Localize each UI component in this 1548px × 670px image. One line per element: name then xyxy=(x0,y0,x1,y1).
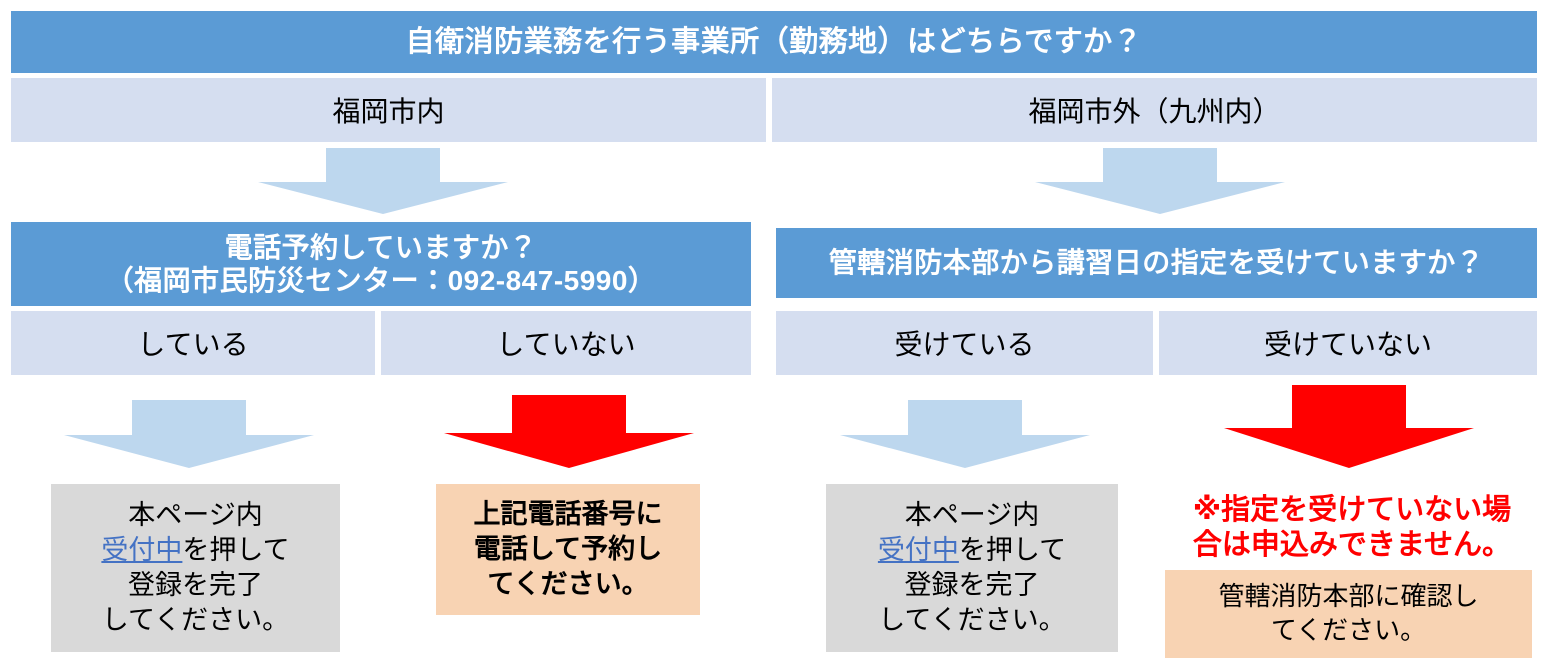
left-branch-question-line2: （福岡市民防災センター：092-847-5990） xyxy=(106,264,657,297)
outcome-right-yes-line4: してください。 xyxy=(878,603,1065,638)
right-branch-option-yes[interactable]: 受けている xyxy=(776,311,1153,375)
root-option-fukuoka-city[interactable]: 福岡市内 xyxy=(11,78,766,142)
left-branch-option-label-1: していない xyxy=(496,323,635,363)
outcome-right-yes-line1: 本ページ内 xyxy=(905,498,1039,533)
root-option-label-0: 福岡市内 xyxy=(332,90,444,130)
right-branch-question-box: 管轄消防本部から講習日の指定を受けていますか？ xyxy=(776,228,1537,298)
down-arrow-icon xyxy=(258,148,508,214)
outcome-left-no-line2: 電話して予約し xyxy=(474,532,662,567)
flowchart-canvas: 自衛消防業務を行う事業所（勤務地）はどちらですか？ 福岡市内 福岡市外（九州内）… xyxy=(0,0,1548,670)
down-arrow-icon xyxy=(444,395,694,468)
uketsukechu-link[interactable]: 受付中 xyxy=(878,535,959,565)
down-arrow-icon xyxy=(64,400,314,468)
root-option-label-1: 福岡市外（九州内） xyxy=(1028,90,1280,130)
root-option-outside-fukuoka[interactable]: 福岡市外（九州内） xyxy=(772,78,1537,142)
left-branch-question-box: 電話予約していますか？ （福岡市民防災センター：092-847-5990） xyxy=(11,222,751,306)
right-branch-option-no[interactable]: 受けていない xyxy=(1159,311,1537,375)
outcome-left-no-box: 上記電話番号に 電話して予約し てください。 xyxy=(436,484,700,615)
outcome-right-no-warning: ※指定を受けていない場 合は申込みできません。 xyxy=(1162,490,1542,566)
outcome-left-yes-line1: 本ページ内 xyxy=(128,498,262,533)
arrow-right-yes-to-outcome xyxy=(840,400,1090,468)
left-branch-option-no[interactable]: していない xyxy=(381,311,751,375)
down-arrow-icon xyxy=(840,400,1090,468)
outcome-right-yes-line2: 受付中を押して xyxy=(878,533,1066,568)
root-question-box: 自衛消防業務を行う事業所（勤務地）はどちらですか？ xyxy=(11,11,1537,73)
arrow-left-yes-to-outcome xyxy=(64,400,314,468)
arrow-left-no-to-outcome xyxy=(444,395,694,468)
outcome-left-yes-line3: 登録を完了 xyxy=(128,568,263,603)
left-branch-option-yes[interactable]: している xyxy=(11,311,375,375)
outcome-right-yes-box: 本ページ内 受付中を押して 登録を完了 してください。 xyxy=(826,484,1118,652)
down-arrow-icon xyxy=(1224,385,1474,468)
right-branch-option-label-1: 受けていない xyxy=(1264,323,1432,363)
outcome-right-yes-line3: 登録を完了 xyxy=(905,568,1040,603)
outcome-right-no-warning-line1: ※指定を受けていない場 xyxy=(1193,493,1511,528)
right-branch-option-label-0: 受けている xyxy=(894,323,1034,363)
outcome-left-no-line1: 上記電話番号に xyxy=(474,497,663,532)
outcome-left-yes-line4: してください。 xyxy=(102,603,289,638)
left-branch-option-label-0: している xyxy=(137,323,248,363)
outcome-left-yes-line2-post: を押して xyxy=(182,535,289,565)
outcome-right-no-box: 管轄消防本部に確認し てください。 xyxy=(1165,570,1532,658)
outcome-left-no-line3: てください。 xyxy=(487,567,648,602)
uketsukechu-link[interactable]: 受付中 xyxy=(101,535,182,565)
arrow-right-no-to-outcome xyxy=(1224,385,1474,468)
outcome-right-no-line2: てください。 xyxy=(1271,614,1426,648)
left-branch-question-line1: 電話予約していますか？ xyxy=(225,231,538,264)
outcome-left-yes-box: 本ページ内 受付中を押して 登録を完了 してください。 xyxy=(51,484,340,652)
arrow-root-to-right-branch xyxy=(1035,148,1285,214)
outcome-right-no-warning-line2: 合は申込みできません。 xyxy=(1193,528,1511,563)
outcome-right-no-line1: 管轄消防本部に確認し xyxy=(1218,580,1478,614)
root-question-text: 自衛消防業務を行う事業所（勤務地）はどちらですか？ xyxy=(406,25,1143,59)
arrow-root-to-left-branch xyxy=(258,148,508,214)
right-branch-question-line1: 管轄消防本部から講習日の指定を受けていますか？ xyxy=(829,246,1485,279)
down-arrow-icon xyxy=(1035,148,1285,214)
outcome-left-yes-line2: 受付中を押して xyxy=(101,533,289,568)
outcome-right-yes-line2-post: を押して xyxy=(959,535,1066,565)
